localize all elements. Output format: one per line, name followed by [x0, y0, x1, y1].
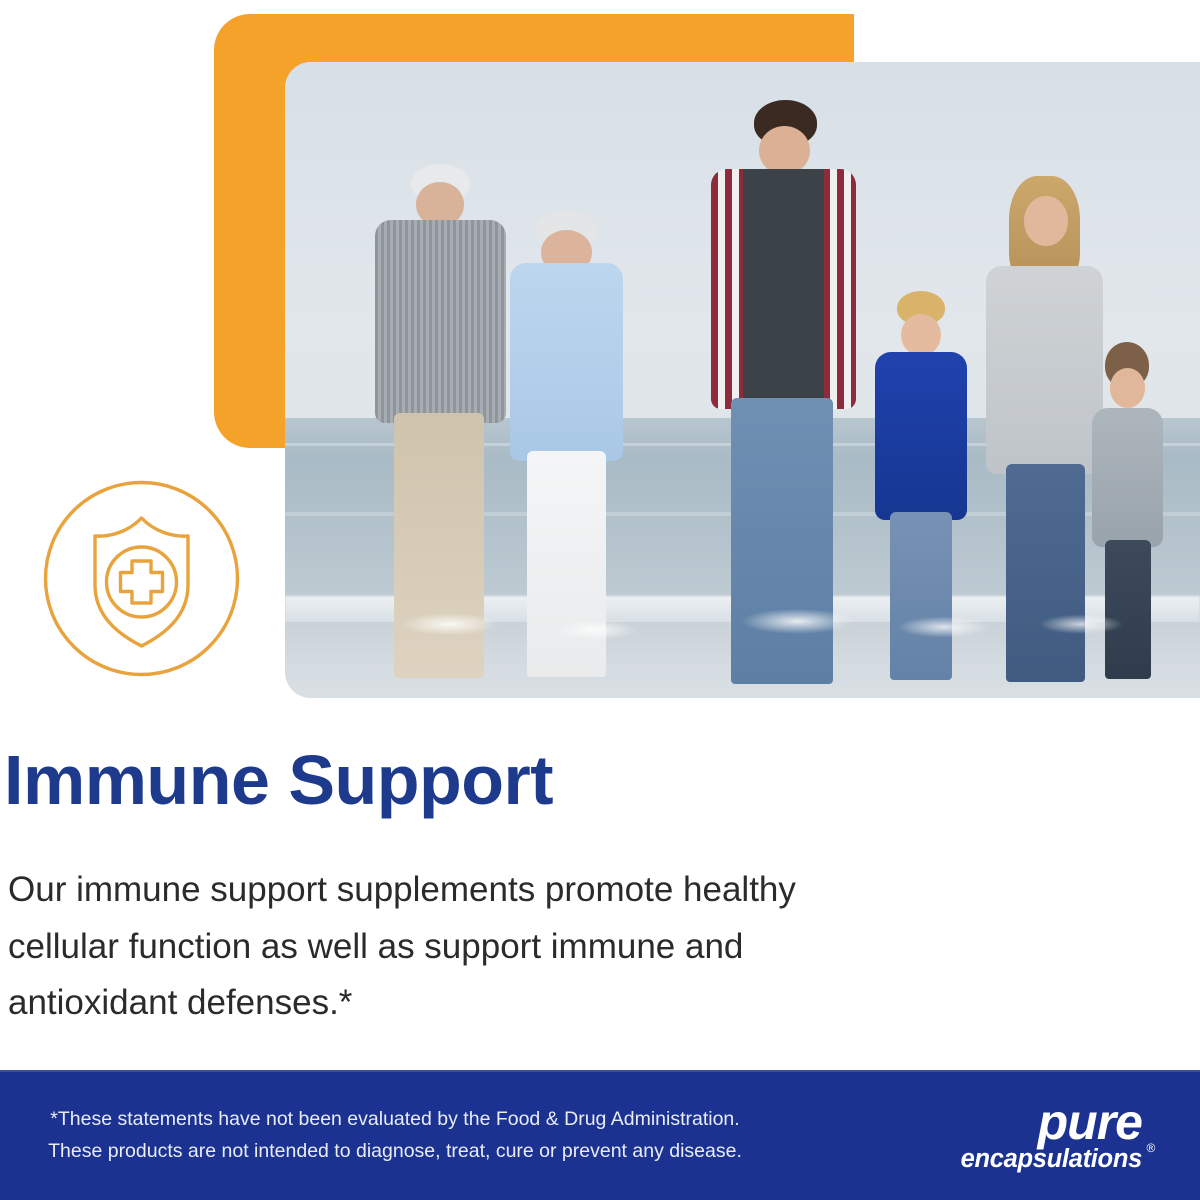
brand-logo-secondary-text: encapsulations — [961, 1145, 1142, 1173]
head — [1110, 368, 1145, 408]
head — [901, 314, 941, 356]
description-line-2: cellular function as well as support imm… — [8, 919, 1098, 976]
promo-page: Immune Support Our immune support supple… — [0, 0, 1200, 1200]
brand-logo-primary: pure — [912, 1098, 1142, 1146]
torso — [711, 169, 856, 409]
hero-photo — [285, 62, 1200, 698]
immune-shield-badge — [42, 479, 241, 678]
person-father — [701, 100, 866, 672]
registered-trademark-icon: ® — [1146, 1142, 1155, 1155]
footer-bar: *These statements have not been evaluate… — [0, 1070, 1200, 1200]
description-paragraph: Our immune support supplements promote h… — [8, 862, 1098, 1032]
footer-divider — [0, 1070, 1200, 1072]
fda-disclaimer: *These statements have not been evaluate… — [0, 1104, 790, 1167]
legs — [1006, 464, 1085, 682]
page-title: Immune Support — [4, 744, 553, 818]
head — [1024, 196, 1068, 246]
head — [759, 126, 810, 175]
description-line-1: Our immune support supplements promote h… — [8, 862, 1098, 919]
torso — [510, 263, 623, 461]
disclaimer-line-2: These products are not intended to diagn… — [0, 1136, 790, 1168]
brand-logo: pure encapsulations® — [912, 1098, 1142, 1178]
disclaimer-line-1: *These statements have not been evaluate… — [0, 1104, 790, 1136]
description-line-3: antioxidant defenses.* — [8, 975, 1098, 1032]
torso — [1092, 408, 1163, 547]
torso — [375, 220, 506, 424]
photo-water-splash — [285, 590, 1200, 647]
brand-logo-secondary: encapsulations® — [912, 1146, 1142, 1173]
shield-medical-cross-icon — [42, 479, 241, 678]
torso — [875, 352, 967, 520]
